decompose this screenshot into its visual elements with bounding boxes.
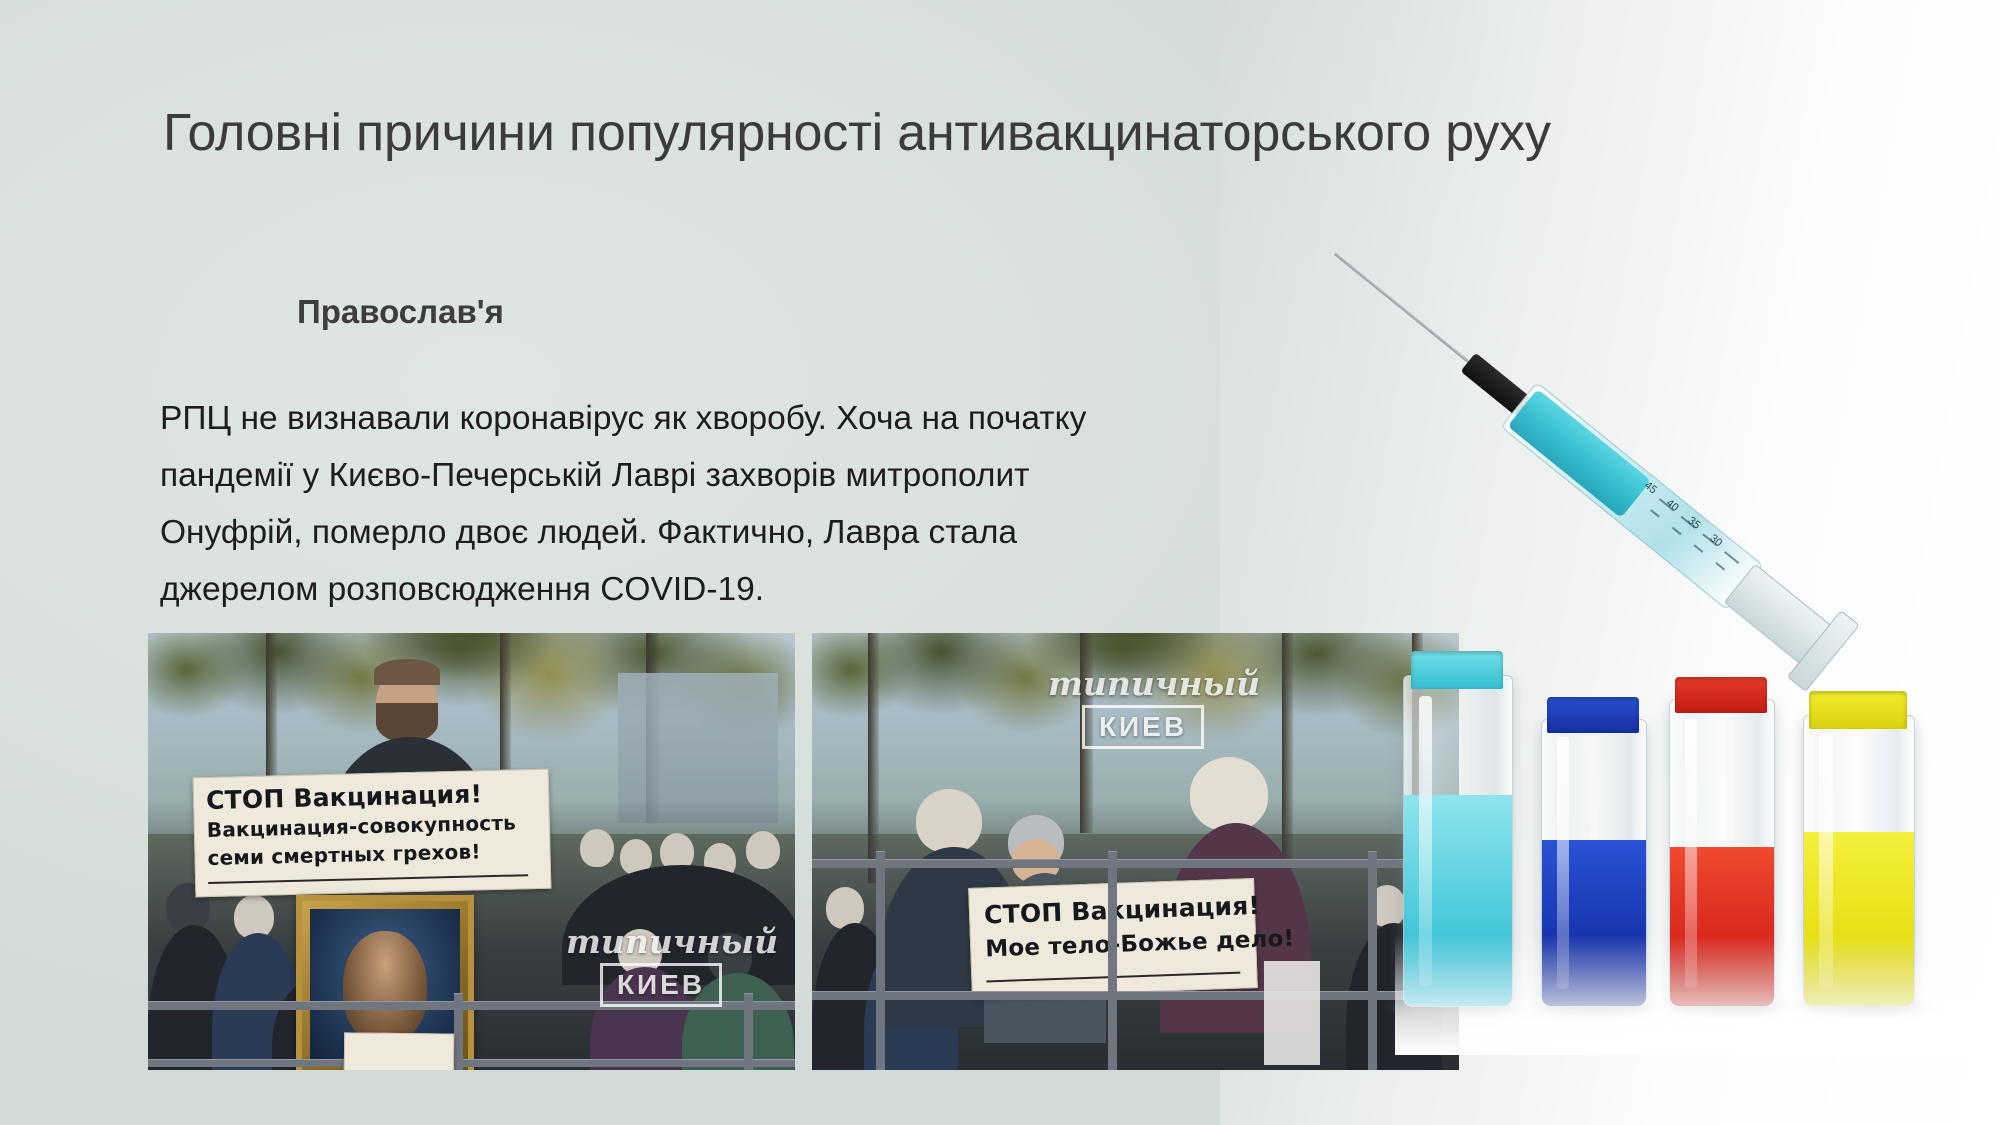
barrier-post bbox=[744, 993, 753, 1070]
syringe-tick bbox=[1715, 562, 1725, 570]
syringe-tick bbox=[1650, 509, 1660, 517]
banner-underline bbox=[208, 874, 528, 884]
protester-head bbox=[1190, 757, 1268, 831]
syringe-tick bbox=[1672, 527, 1682, 535]
section-subtitle: Православ'я bbox=[297, 293, 504, 331]
syringe-needle bbox=[1334, 252, 1476, 368]
protester-hair bbox=[374, 659, 440, 685]
body-line-1: РПЦ не визнавали коронавірус як хворобу.… bbox=[160, 390, 1430, 447]
slide-canvas: Головні причини популярності антивакцина… bbox=[0, 0, 2000, 1125]
barrier-rail bbox=[812, 859, 1459, 868]
syringe-scale-35: 35 bbox=[1686, 515, 1703, 532]
barrier-rail bbox=[812, 991, 1459, 1000]
body-line-3: Онуфрій, померло двоє людей. Фактично, Л… bbox=[160, 504, 1430, 561]
barrier-post bbox=[1368, 851, 1377, 1070]
syringe-tick bbox=[1694, 544, 1704, 552]
page-title: Головні причини популярності антивакцина… bbox=[163, 104, 1923, 162]
icon-figure bbox=[343, 931, 427, 1042]
barrier-post bbox=[454, 993, 463, 1070]
syringe-scale-40: 40 bbox=[1664, 497, 1681, 514]
body-line-2: пандемії у Києво-Печерській Лаврі захвор… bbox=[160, 447, 1430, 504]
barrier-post bbox=[1108, 851, 1117, 1070]
syringe-tick bbox=[1724, 551, 1739, 564]
syringe-and-vials-image: 45 40 35 30 bbox=[1395, 395, 2000, 1055]
protester-head bbox=[916, 789, 982, 853]
barrier-post bbox=[876, 851, 885, 1070]
barrier-rail bbox=[148, 1059, 795, 1067]
barrier-rail bbox=[148, 1001, 795, 1010]
crowd-person bbox=[580, 829, 614, 867]
protest-banner-left: СТОП Вакцинация! Вакцинация-совокупность… bbox=[193, 769, 552, 898]
crowd-person bbox=[746, 831, 780, 869]
syringe-barrel: 45 40 35 30 bbox=[1500, 382, 1763, 611]
white-bag bbox=[1264, 961, 1320, 1065]
protest-photo-left: СТОП Вакцинация! Вакцинация-совокупность… bbox=[148, 633, 795, 1070]
syringe-scale-30: 30 bbox=[1707, 532, 1724, 549]
surface-reflection bbox=[1395, 935, 2000, 1055]
syringe-liquid bbox=[1507, 389, 1651, 518]
banner-fragment bbox=[344, 1032, 454, 1070]
